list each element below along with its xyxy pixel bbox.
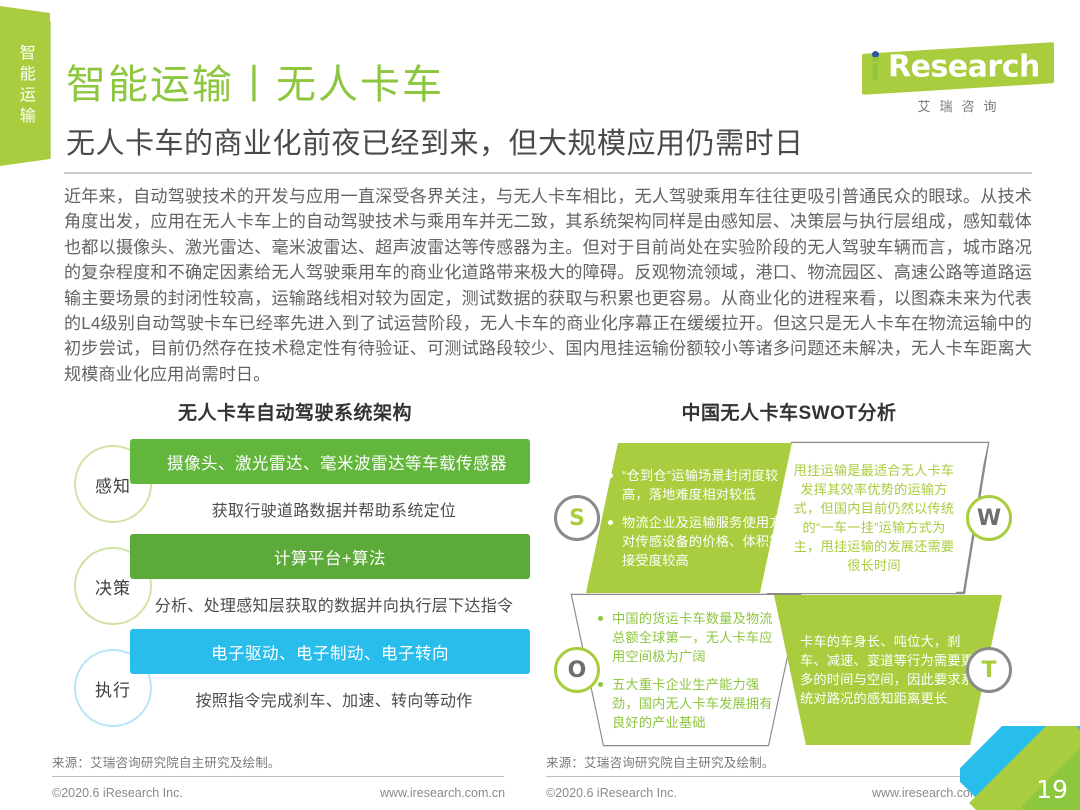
swot-badge-o-letter: O (568, 658, 587, 683)
swot-o-item-2: 五大重卡企业生产能力强劲，国内无人卡车发展拥有良好的产业基础 (597, 675, 775, 732)
layer-bar-execution: 电子驱动、电子制动、电子转向 (130, 629, 530, 674)
swot-s-item-2: 物流企业及运输服务使用方对传感设备的价格、体积等接受度较高 (607, 513, 793, 570)
swot-quadrant-o: 中国的货运卡车数量及物流总额全球第一，无人卡车应用空间极为广阔 五大重卡企业生产… (572, 595, 800, 745)
layer-bar-decision: 计算平台+算法 (130, 534, 530, 579)
swot-t-item-1: 卡车的车身长、吨位大，刹车、减速、变道等行为需要更多的时间与空间，因此要求系统对… (800, 632, 976, 708)
page-title: 智能运输丨无人卡车 (66, 52, 444, 110)
layer-bar-execution-label: 电子驱动、电子制动、电子转向 (211, 640, 449, 664)
layer-circle-perception-label: 感知 (95, 472, 131, 497)
architecture-diagram: 感知 决策 执行 摄像头、激光雷达、毫米波雷达等车载传感器 获取行驶道路数据并帮… (52, 439, 538, 749)
layer-bar-perception: 摄像头、激光雷达、毫米波雷达等车载传感器 (130, 439, 530, 484)
layer-caption-perception: 获取行驶道路数据并帮助系统定位 (130, 497, 538, 521)
footer-divider-right (546, 776, 986, 777)
footer-copyright-left: ©2020.6 iResearch Inc. (52, 786, 183, 800)
swot-s-item-1: “仓到仓”运输场景封闭度较高，落地难度相对较低 (607, 466, 793, 504)
logo-wordmark: Research (888, 50, 1040, 85)
footer-copyright-right: ©2020.6 iResearch Inc. (546, 786, 677, 800)
swot-o-list: 中国的货运卡车数量及物流总额全球第一，无人卡车应用空间极为广阔 五大重卡企业生产… (597, 609, 775, 732)
layer-circle-execution-label: 执行 (95, 676, 131, 701)
layer-caption-execution: 按照指令完成刹车、加速、转向等动作 (130, 687, 538, 711)
architecture-panel: 无人卡车自动驾驶系统架构 感知 决策 执行 摄像头、激光雷达、毫米波雷达等车载传… (52, 398, 538, 749)
page-subtitle: 无人卡车的商业化前夜已经到来，但大规模应用仍需时日 (66, 120, 804, 162)
swot-badge-w: W (966, 495, 1012, 541)
swot-quadrant-w: 甩挂运输是最适合无人卡车发挥其效率优势的运输方式，但国内目前仍然以传统的“一车一… (760, 443, 988, 593)
layer-row-execution: 电子驱动、电子制动、电子转向 (130, 629, 538, 674)
logo-chinese-name: 艾瑞咨询 (862, 96, 1052, 115)
logo-letter-i: i (870, 56, 880, 86)
footer-divider-left (52, 776, 504, 777)
body-paragraph: 近年来，自动驾驶技术的开发与应用一直深受各界关注，与无人卡车相比，无人驾驶乘用车… (64, 184, 1032, 387)
layer-caption-decision: 分析、处理感知层获取的数据并向执行层下达指令 (130, 592, 538, 616)
source-note-right: 来源：艾瑞咨询研究院自主研究及绘制。 (546, 752, 775, 771)
swot-panel: 中国无人卡车SWOT分析 “仓到仓”运输场景封闭度较高，落地难度相对较低 物流企… (546, 398, 1032, 749)
source-note-left: 来源：艾瑞咨询研究院自主研究及绘制。 (52, 752, 281, 771)
swot-badge-t-letter: T (981, 658, 996, 683)
swot-badge-o: O (554, 647, 600, 693)
swot-badge-w-letter: W (977, 506, 1001, 531)
side-tab-label: 智能运输 (16, 44, 34, 128)
iresearch-logo: i Research 艾瑞咨询 (862, 48, 1052, 115)
swot-badge-t: T (966, 647, 1012, 693)
header-divider (64, 172, 1032, 174)
layer-row-decision: 计算平台+算法 (130, 534, 538, 579)
layer-bar-decision-label: 计算平台+算法 (274, 545, 386, 569)
page-number: 19 (1036, 775, 1068, 804)
swot-badge-s-letter: S (569, 506, 585, 531)
swot-s-list: “仓到仓”运输场景封闭度较高，落地难度相对较低 物流企业及运输服务使用方对传感设… (607, 466, 793, 570)
layer-row-perception: 摄像头、激光雷达、毫米波雷达等车载传感器 (130, 439, 538, 484)
layer-bar-perception-label: 摄像头、激光雷达、毫米波雷达等车载传感器 (153, 450, 507, 474)
layer-circle-decision-label: 决策 (95, 574, 131, 599)
swot-badge-s: S (554, 495, 600, 541)
footer-url-left[interactable]: www.iresearch.com.cn (380, 786, 505, 800)
swot-o-item-1: 中国的货运卡车数量及物流总额全球第一，无人卡车应用空间极为广阔 (597, 609, 775, 666)
swot-title: 中国无人卡车SWOT分析 (546, 398, 1032, 425)
report-page: 智能运输 i Research 艾瑞咨询 智能运输丨无人卡车 无人卡车的商业化前… (0, 0, 1080, 810)
swot-w-item-1: 甩挂运输是最适合无人卡车发挥其效率优势的运输方式，但国内目前仍然以传统的“一车一… (790, 461, 958, 575)
swot-diagram: “仓到仓”运输场景封闭度较高，落地难度相对较低 物流企业及运输服务使用方对传感设… (546, 439, 1032, 749)
architecture-title: 无人卡车自动驾驶系统架构 (52, 398, 538, 425)
logo-mark: i Research (862, 42, 1054, 95)
side-tab-chapter: 智能运输 (0, 6, 50, 166)
